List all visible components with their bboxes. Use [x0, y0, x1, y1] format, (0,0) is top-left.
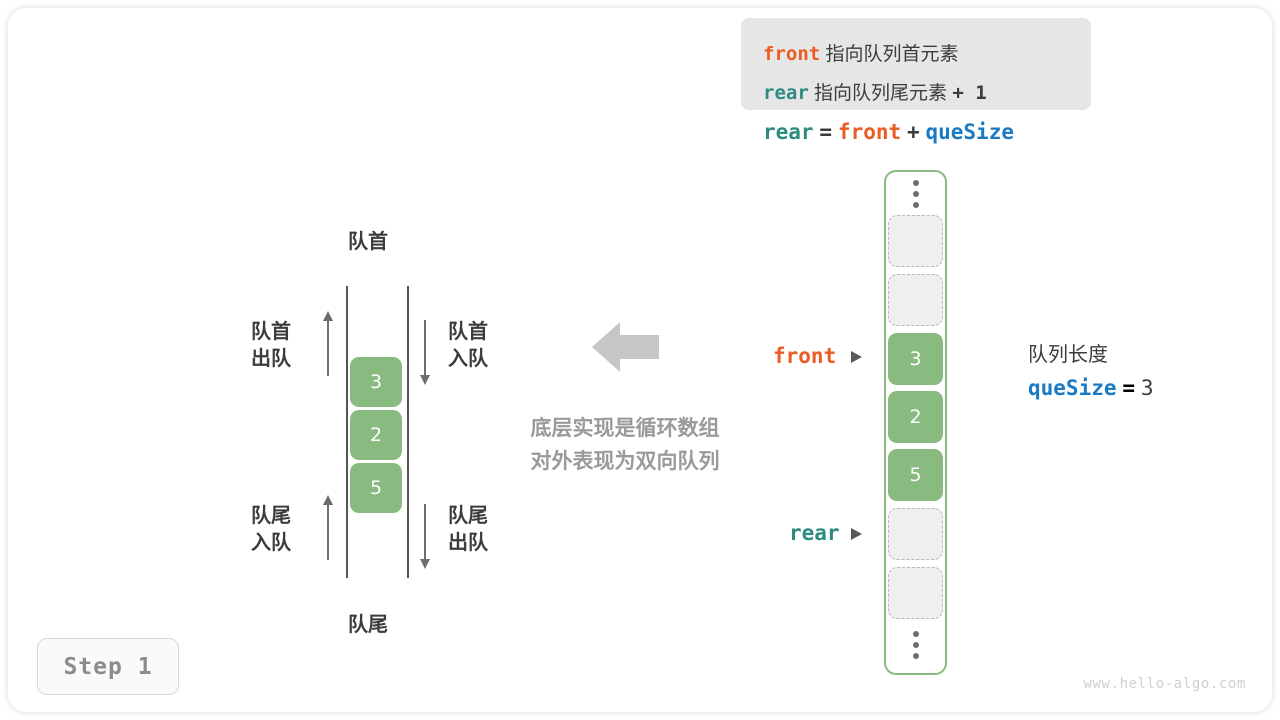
- formula-rhs-quesize: queSize: [925, 120, 1014, 144]
- array-cell: 5: [888, 449, 943, 501]
- formula-lhs: rear: [763, 120, 814, 144]
- array-cell: [888, 508, 943, 560]
- legend-term-front: front: [763, 43, 820, 65]
- pointer-label-front: front: [773, 344, 836, 368]
- deque-cell: 5: [350, 463, 402, 513]
- middle-caption-line1: 底层实现是循环数组: [502, 412, 748, 445]
- legend-term-rear: rear: [763, 82, 809, 104]
- legend-line-front: front 指向队列首元素: [763, 39, 959, 66]
- queue-size-note: 队列长度 queSize = 3: [1028, 338, 1154, 401]
- deque-label-front-enqueue: 队首 入队: [448, 318, 488, 372]
- middle-caption-line2: 对外表现为双向队列: [502, 445, 748, 478]
- legend-text-front: 指向队列首元素: [825, 43, 958, 65]
- middle-caption: 底层实现是循环数组 对外表现为双向队列: [502, 412, 748, 478]
- watermark: www.hello-algo.com: [1083, 676, 1246, 692]
- deque-top-label: 队首: [348, 228, 388, 255]
- arrow-rear-enqueue-icon: [327, 504, 329, 560]
- pointer-front-arrow-icon: [851, 351, 862, 363]
- deque-label-rear-enqueue: 队尾 入队: [251, 502, 291, 556]
- array-top-ellipsis-icon: [911, 180, 920, 208]
- legend-text-rear: 指向队列尾元素: [814, 82, 947, 104]
- deque-label-rear-dequeue: 队尾 出队: [448, 502, 488, 556]
- array-cell: 3: [888, 333, 943, 385]
- array-cell: [888, 274, 943, 326]
- arrow-rear-dequeue-icon: [424, 504, 426, 560]
- formula-equals: =: [819, 120, 832, 144]
- step-badge: Step 1: [37, 638, 179, 695]
- deque-cell: 2: [350, 410, 402, 460]
- diagram-canvas: front 指向队列首元素 rear 指向队列尾元素 + 1 rear = fr…: [0, 0, 1280, 720]
- deque-label-front-dequeue: 队首 出队: [251, 318, 291, 372]
- array-bottom-ellipsis-icon: [911, 631, 920, 659]
- array-cell: 2: [888, 391, 943, 443]
- queue-size-var: queSize: [1028, 376, 1117, 400]
- array-cell: [888, 215, 943, 267]
- array-cell: [888, 567, 943, 619]
- pointer-label-rear: rear: [789, 521, 840, 545]
- legend-line-rear: rear 指向队列尾元素 + 1: [763, 78, 987, 105]
- legend-box: front 指向队列首元素 rear 指向队列尾元素 + 1: [741, 18, 1091, 110]
- deque-bottom-label: 队尾: [348, 611, 388, 638]
- queue-size-value: 3: [1141, 376, 1154, 400]
- deque-cell: 3: [350, 357, 402, 407]
- arrow-front-dequeue-icon: [327, 320, 329, 376]
- deque-rail-right: [407, 286, 409, 578]
- queue-size-equals: =: [1122, 376, 1135, 400]
- arrow-front-enqueue-icon: [424, 320, 426, 376]
- pointer-rear-arrow-icon: [851, 528, 862, 540]
- formula-rhs-front: front: [838, 120, 901, 144]
- queue-size-title: 队列长度: [1028, 338, 1154, 367]
- formula-plus: +: [907, 120, 920, 144]
- formula-rear-equals: rear = front + queSize: [763, 120, 1014, 145]
- left-pointing-block-arrow-icon: [592, 322, 659, 372]
- queue-size-expression: queSize = 3: [1028, 376, 1154, 401]
- legend-suffix-rear: + 1: [952, 82, 986, 104]
- deque-rail-left: [346, 286, 348, 578]
